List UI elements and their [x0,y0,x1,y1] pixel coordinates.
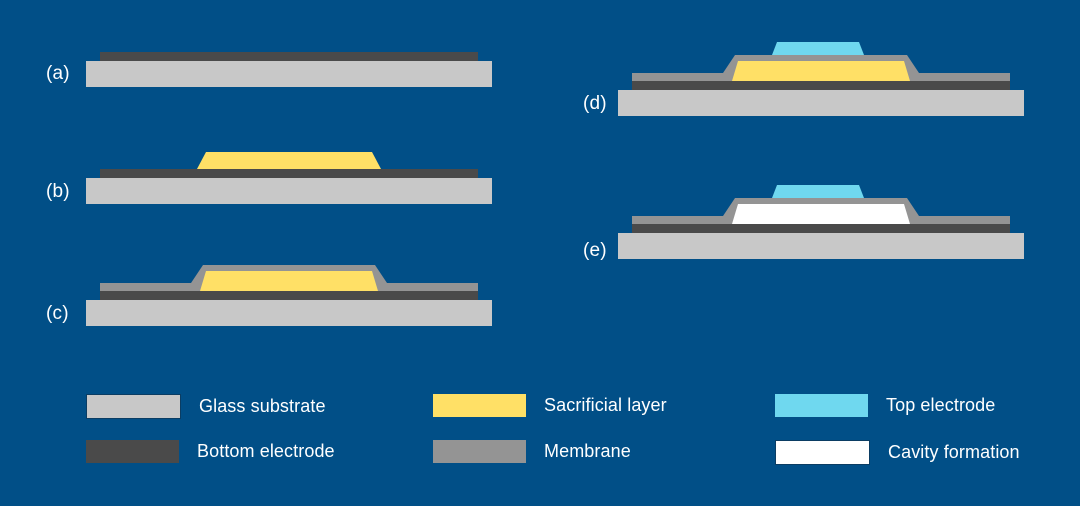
panel-c-sacrificial-layer [200,271,378,291]
panel-d-top-electrode [772,42,864,55]
legend-item-top-electrode: Top electrode [775,394,995,417]
legend-label-cavity-formation: Cavity formation [888,442,1020,463]
legend-item-membrane: Membrane [433,440,631,463]
panel-label-c: (c) [46,303,69,325]
panel-label-b: (b) [46,181,70,203]
panel-e-glass-substrate [618,233,1024,259]
legend-swatch-glass-substrate [86,394,181,419]
panel-d-sacrificial-layer [732,61,910,81]
panel-a-glass-substrate [86,61,492,87]
panel-label-a: (a) [46,63,70,85]
panel-c-stack [86,265,492,326]
panel-d-glass-substrate [618,90,1024,116]
legend-item-glass-substrate: Glass substrate [86,394,326,419]
panel-c-glass-substrate [86,300,492,326]
panel-label-d: (d) [583,93,607,115]
legend-swatch-sacrificial-layer [433,394,526,417]
legend-label-bottom-electrode: Bottom electrode [197,441,335,462]
legend-item-cavity-formation: Cavity formation [775,440,1020,465]
legend-swatch-bottom-electrode [86,440,179,463]
legend-item-bottom-electrode: Bottom electrode [86,440,335,463]
legend-label-top-electrode: Top electrode [886,395,995,416]
panel-e-cavity [732,204,910,224]
panel-b-bottom-electrode [100,169,478,178]
panel-a-bottom-electrode [100,52,478,61]
panel-d-bottom-electrode [632,81,1010,90]
panel-e-stack [618,185,1024,259]
legend-swatch-membrane [433,440,526,463]
panel-b-sacrificial-layer [197,152,381,169]
legend-item-sacrificial-layer: Sacrificial layer [433,394,667,417]
panel-d-stack [618,42,1024,116]
panel-e-top-electrode [772,185,864,198]
legend-swatch-top-electrode [775,394,868,417]
diagram-canvas: (a) (b) (c) (d) (e) Glass substrate Bott… [0,0,1080,506]
legend-label-sacrificial-layer: Sacrificial layer [544,395,667,416]
panel-label-e: (e) [583,240,607,262]
process-flow-illustration [0,0,1080,506]
legend-label-membrane: Membrane [544,441,631,462]
legend-swatch-cavity-formation [775,440,870,465]
panel-a-stack [86,52,492,87]
legend-label-glass-substrate: Glass substrate [199,396,326,417]
panel-e-bottom-electrode [632,224,1010,233]
panel-c-bottom-electrode [100,291,478,300]
panel-b-glass-substrate [86,178,492,204]
panel-b-stack [86,152,492,204]
